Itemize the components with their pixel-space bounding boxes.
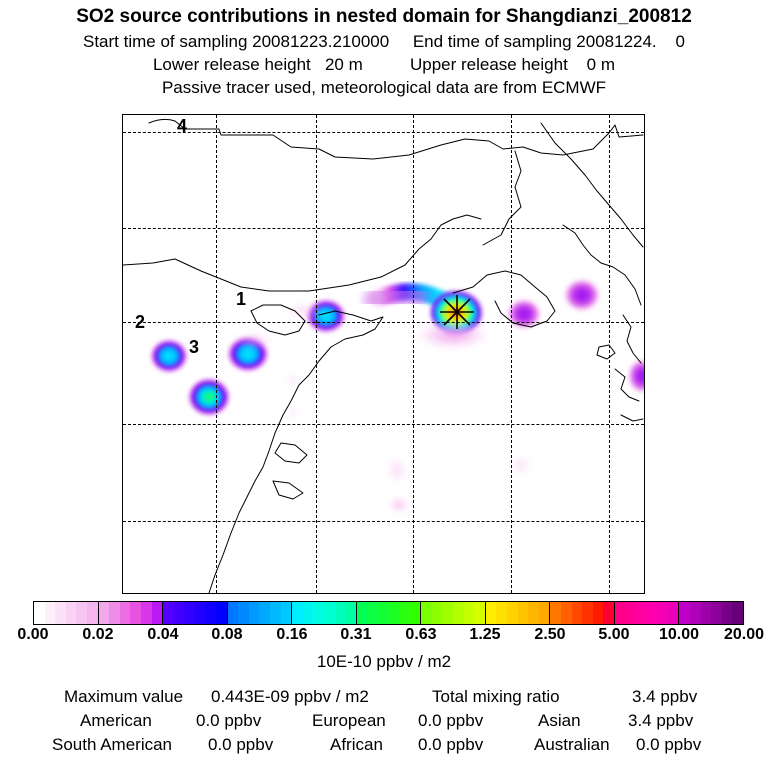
total-mixing-ratio-label: Total mixing ratio: [432, 686, 560, 708]
colorbar-swatch: [711, 602, 722, 624]
colorbar: [33, 601, 744, 625]
colorbar-swatch: [141, 602, 152, 624]
colorbar-swatch: [550, 602, 561, 624]
gridline-vertical: [216, 115, 217, 593]
colorbar-tick-5: 0.31: [340, 626, 371, 644]
colorbar-swatch: [87, 602, 98, 624]
colorbar-swatch: [647, 602, 658, 624]
colorbar-swatch: [174, 602, 185, 624]
region-value-australian: 0.0 ppbv: [636, 734, 701, 756]
region-label-african: African: [330, 734, 383, 756]
region-value-asian: 3.4 ppbv: [628, 710, 693, 732]
colorbar-swatch: [76, 602, 87, 624]
colorbar-swatch: [313, 602, 324, 624]
colorbar-swatch: [109, 602, 120, 624]
colorbar-segment: [615, 602, 680, 624]
colorbar-swatch: [399, 602, 410, 624]
colorbar-swatch: [539, 602, 550, 624]
colorbar-swatch: [432, 602, 443, 624]
colorbar-swatch: [66, 602, 77, 624]
colorbar-swatch: [410, 602, 421, 624]
colorbar-swatch: [668, 602, 679, 624]
colorbar-swatch: [453, 602, 464, 624]
colorbar-swatch: [389, 602, 400, 624]
colorbar-swatch: [615, 602, 626, 624]
total-mixing-ratio-value: 3.4 ppbv: [632, 686, 697, 708]
gridline-horizontal: [123, 424, 644, 425]
colorbar-swatch: [486, 602, 497, 624]
colorbar-tick-10: 10.00: [659, 626, 699, 644]
colorbar-tick-labels: 0.000.020.040.080.160.310.631.252.505.00…: [0, 626, 768, 646]
colorbar-swatch: [701, 602, 712, 624]
colorbar-swatch: [335, 602, 346, 624]
gridline-horizontal: [123, 521, 644, 522]
colorbar-swatch: [474, 602, 485, 624]
colorbar-swatch: [603, 602, 614, 624]
gridline-vertical: [316, 115, 317, 593]
colorbar-tick-7: 1.25: [469, 626, 500, 644]
colorbar-swatch: [195, 602, 206, 624]
map-label-4: 4: [177, 117, 187, 135]
gridline-vertical: [609, 115, 610, 593]
colorbar-swatch: [228, 602, 239, 624]
colorbar-swatch: [496, 602, 507, 624]
region-label-european: European: [312, 710, 386, 732]
colorbar-swatch: [593, 602, 604, 624]
colorbar-segment: [679, 602, 743, 624]
colorbar-tick-11: 20.00: [724, 626, 764, 644]
colorbar-swatch: [55, 602, 66, 624]
colorbar-swatch: [679, 602, 690, 624]
colorbar-swatch: [270, 602, 281, 624]
colorbar-swatch: [184, 602, 195, 624]
colorbar-swatch: [152, 602, 163, 624]
map-label-1: 1: [236, 290, 246, 308]
region-label-american: American: [80, 710, 152, 732]
colorbar-tick-9: 5.00: [598, 626, 629, 644]
stat-row-regions-1: American 0.0 ppbv European 0.0 ppbv Asia…: [0, 710, 768, 734]
gridline-horizontal: [123, 228, 644, 229]
tracer-meteo-line: Passive tracer used, meteorological data…: [0, 76, 768, 99]
colorbar-swatch: [34, 602, 45, 624]
maximum-value: 0.443E-09 ppbv / m2: [211, 686, 369, 708]
sampling-time-line: Start time of sampling 20081223.210000 E…: [0, 30, 768, 53]
gridline-vertical: [511, 115, 512, 593]
colorbar-swatch: [367, 602, 378, 624]
colorbar-swatch: [130, 602, 141, 624]
maximum-value-label: Maximum value: [64, 686, 183, 708]
colorbar-swatch: [722, 602, 733, 624]
colorbar-swatch: [528, 602, 539, 624]
colorbar-segment: [357, 602, 422, 624]
region-label-australian: Australian: [534, 734, 610, 756]
colorbar-swatch: [690, 602, 701, 624]
colorbar-swatch: [249, 602, 260, 624]
colorbar-swatch: [582, 602, 593, 624]
gridline-horizontal: [123, 132, 644, 133]
colorbar-swatch: [357, 602, 368, 624]
colorbar-swatch: [216, 602, 227, 624]
colorbar-tick-0: 0.00: [17, 626, 48, 644]
colorbar-swatch: [657, 602, 668, 624]
map-plot-frame[interactable]: 4 1 2 3: [122, 114, 645, 594]
colorbar-swatch: [205, 602, 216, 624]
region-value-african: 0.0 ppbv: [418, 734, 483, 756]
colorbar-swatch: [292, 602, 303, 624]
colorbar-swatch: [464, 602, 475, 624]
colorbar-swatch: [572, 602, 583, 624]
colorbar-swatch: [120, 602, 131, 624]
colorbar-swatch: [303, 602, 314, 624]
colorbar-segment: [292, 602, 357, 624]
colorbar-container: [33, 601, 744, 625]
colorbar-swatch: [99, 602, 110, 624]
statistics-block: Maximum value 0.443E-09 ppbv / m2 Total …: [0, 686, 768, 758]
colorbar-segment: [550, 602, 615, 624]
release-height-line: Lower release height 20 m Upper release …: [0, 53, 768, 76]
colorbar-segment: [228, 602, 293, 624]
colorbar-segment: [486, 602, 551, 624]
colorbar-unit-label: 10E-10 ppbv / m2: [0, 652, 768, 672]
colorbar-tick-1: 0.02: [82, 626, 113, 644]
region-label-asian: Asian: [538, 710, 581, 732]
colorbar-swatch: [345, 602, 356, 624]
colorbar-segment: [34, 602, 99, 624]
colorbar-swatch: [732, 602, 743, 624]
stat-row-regions-2: South American 0.0 ppbv African 0.0 ppbv…: [0, 734, 768, 758]
colorbar-swatch: [626, 602, 637, 624]
colorbar-tick-2: 0.04: [147, 626, 178, 644]
colorbar-swatch: [378, 602, 389, 624]
colorbar-swatch: [281, 602, 292, 624]
colorbar-swatch: [507, 602, 518, 624]
colorbar-tick-6: 0.63: [405, 626, 436, 644]
region-value-american: 0.0 ppbv: [196, 710, 261, 732]
stat-row-maximum: Maximum value 0.443E-09 ppbv / m2 Total …: [0, 686, 768, 710]
colorbar-swatch: [324, 602, 335, 624]
map-label-3: 3: [189, 338, 199, 356]
colorbar-swatch: [45, 602, 56, 624]
colorbar-swatch: [636, 602, 647, 624]
colorbar-tick-8: 2.50: [534, 626, 565, 644]
colorbar-tick-4: 0.16: [276, 626, 307, 644]
colorbar-swatch: [442, 602, 453, 624]
colorbar-segment: [163, 602, 228, 624]
colorbar-swatch: [259, 602, 270, 624]
gridline-horizontal: [123, 322, 644, 323]
region-label-south-american: South American: [52, 734, 172, 756]
colorbar-swatch: [561, 602, 572, 624]
colorbar-swatch: [518, 602, 529, 624]
colorbar-segment: [99, 602, 164, 624]
colorbar-segment: [421, 602, 486, 624]
region-value-south-american: 0.0 ppbv: [208, 734, 273, 756]
gridline-vertical: [413, 115, 414, 593]
region-value-european: 0.0 ppbv: [418, 710, 483, 732]
header-block: SO2 source contributions in nested domai…: [0, 0, 768, 99]
map-plot-inner: 4 1 2 3: [123, 115, 644, 593]
colorbar-swatch: [163, 602, 174, 624]
colorbar-swatch: [421, 602, 432, 624]
colorbar-swatch: [238, 602, 249, 624]
map-label-2: 2: [135, 313, 145, 331]
colorbar-tick-3: 0.08: [211, 626, 242, 644]
page-title: SO2 source contributions in nested domai…: [0, 0, 768, 30]
